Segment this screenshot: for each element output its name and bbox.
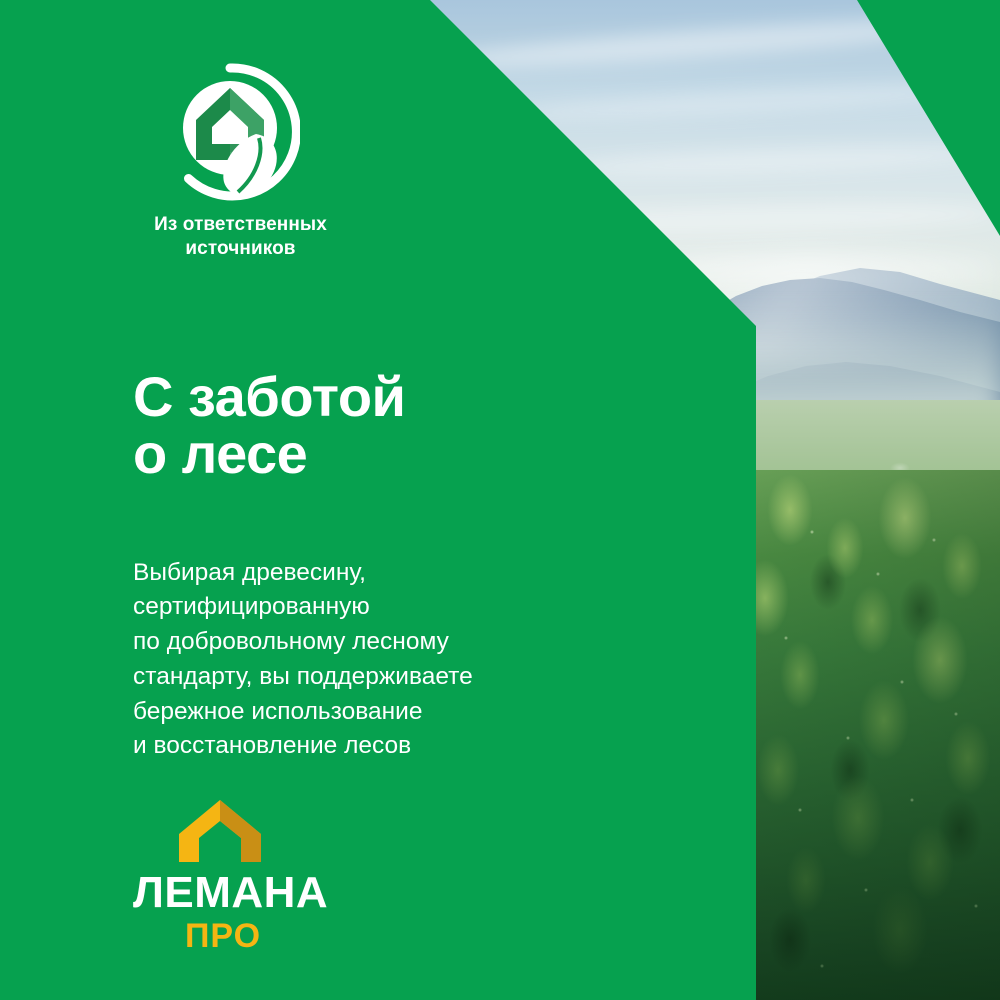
poster-content: Из ответственных источников С заботой о … [0,0,1000,1000]
poster: Из ответственных источников С заботой о … [0,0,1000,1000]
body-paragraph: Выбирая древесину, сертифицированную по … [133,556,473,765]
lemana-pro-suffix: ПРО [133,919,313,953]
badge-caption: Из ответственных источников [133,213,348,261]
responsible-sources-badge-icon [160,62,300,202]
lemana-wordmark: ЛЕМАНА [133,871,313,915]
lemana-house-icon [177,798,263,864]
lemana-pro-logo: ЛЕМАНА ПРО [133,798,313,953]
page-title: С заботой о лесе [133,368,405,483]
